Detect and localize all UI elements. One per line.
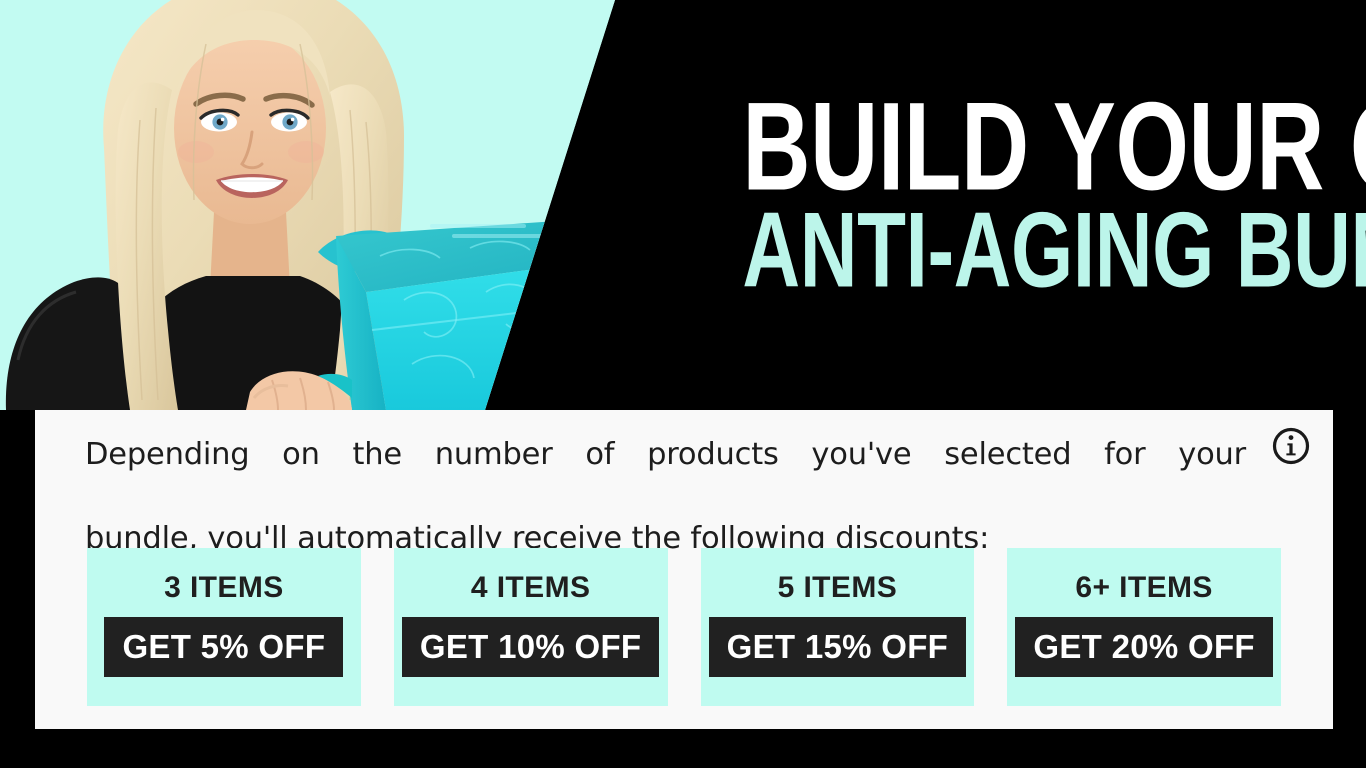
discount-tier-list: 3 ITEMS GET 5% OFF 4 ITEMS GET 10% OFF 5…	[87, 548, 1281, 706]
hero-headline: BUILD YOUR OWN ANTI-AGING BUNDLE	[600, 96, 1312, 294]
hero-model-photo	[0, 0, 660, 410]
discount-description: Depending on the number of products you'…	[85, 434, 1246, 560]
promo-banner: BUILD YOUR OWN ANTI-AGING BUNDLE Dependi…	[0, 0, 1366, 768]
discount-description-line-1: Depending on the number of products you'…	[85, 434, 1246, 518]
tier-discount-badge: GET 20% OFF	[1015, 617, 1273, 677]
headline-line-2: ANTI-AGING BUNDLE	[742, 203, 1312, 297]
tier-discount-badge: GET 5% OFF	[104, 617, 343, 677]
discount-tier-card[interactable]: 5 ITEMS GET 15% OFF	[701, 548, 975, 706]
discount-tier-card[interactable]: 3 ITEMS GET 5% OFF	[87, 548, 361, 706]
hero-section: BUILD YOUR OWN ANTI-AGING BUNDLE	[0, 0, 1366, 410]
tier-discount-badge: GET 15% OFF	[709, 617, 967, 677]
info-circle-icon[interactable]	[1271, 426, 1311, 466]
discount-tier-card[interactable]: 4 ITEMS GET 10% OFF	[394, 548, 668, 706]
discount-tier-card[interactable]: 6+ ITEMS GET 20% OFF	[1007, 548, 1281, 706]
tier-item-count: 6+ ITEMS	[1075, 573, 1212, 603]
tier-item-count: 5 ITEMS	[778, 573, 898, 603]
discount-info-panel: Depending on the number of products you'…	[35, 410, 1333, 729]
panel-copy: Depending on the number of products you'…	[85, 434, 1246, 560]
headline-line-1: BUILD YOUR OWN	[742, 93, 1312, 203]
tier-discount-badge: GET 10% OFF	[402, 617, 660, 677]
tier-item-count: 3 ITEMS	[164, 573, 284, 603]
tier-item-count: 4 ITEMS	[471, 573, 591, 603]
